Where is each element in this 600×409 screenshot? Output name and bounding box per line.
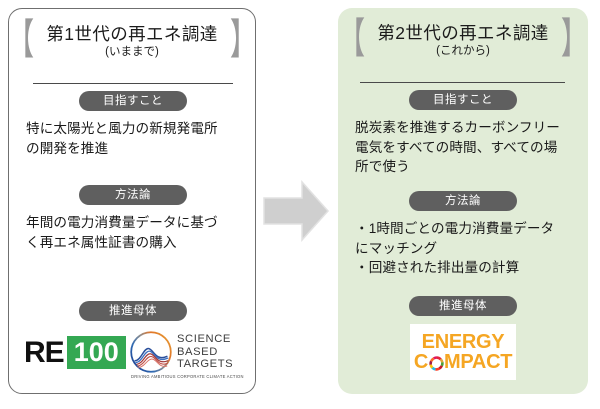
energy-compact-line-2-prefix: C bbox=[414, 352, 428, 372]
sbt-word-line-1: SCIENCE bbox=[177, 333, 233, 346]
gen1-body-goal: 特に太陽光と風力の新規発電所 の開発を推進 bbox=[26, 119, 242, 158]
gen1-title: 第1世代の再エネ調達 bbox=[46, 24, 217, 44]
sbt-circle-mark-icon bbox=[129, 330, 173, 374]
gen2-header-divider bbox=[360, 82, 565, 83]
gen2-body-method: ・1時間ごとの電力消費量データ にマッチング ・回避された排出量の計算 bbox=[355, 219, 579, 278]
gen1-badge-method: 方法論 bbox=[79, 185, 187, 205]
gen1-header-divider bbox=[33, 83, 233, 84]
energy-compact-line-2: C MPACT bbox=[414, 352, 512, 372]
gen2-subtitle: (これから) bbox=[377, 44, 548, 59]
gen1-header: 【 第1世代の再エネ調達 (いままで) 】 bbox=[9, 23, 255, 61]
gen2-header: 【 第2世代の再エネ調達 (これから) 】 bbox=[338, 22, 588, 60]
re100-logo: RE 100 bbox=[24, 336, 126, 369]
gen2-badge-promoter: 推進母体 bbox=[409, 296, 517, 316]
energy-compact-line-2-suffix: MPACT bbox=[444, 352, 512, 372]
gen1-body-method: 年間の電力消費量データに基づ く再エネ属性証書の購入 bbox=[26, 213, 242, 252]
energy-compact-logo: ENERGY C bbox=[410, 324, 516, 380]
bracket-left-icon: 【 bbox=[8, 19, 34, 61]
slide-canvas: 【 第1世代の再エネ調達 (いままで) 】 目指すこと 特に太陽光と風力の新規発… bbox=[0, 0, 600, 409]
sdg-color-wheel-icon bbox=[429, 356, 444, 371]
gen1-badge-promoter: 推進母体 bbox=[79, 301, 187, 321]
energy-compact-line-1: ENERGY bbox=[422, 332, 505, 352]
gen2-badge-goal: 目指すこと bbox=[409, 90, 517, 110]
sbt-word-line-2: BASED bbox=[177, 346, 233, 359]
transition-arrow-icon bbox=[262, 180, 330, 242]
bracket-right-icon: 】 bbox=[230, 19, 256, 61]
bracket-left-icon: 【 bbox=[339, 18, 365, 60]
sbt-word-line-3: TARGETS bbox=[177, 358, 233, 371]
re100-number-badge: 100 bbox=[67, 336, 126, 369]
re100-prefix-text: RE bbox=[24, 336, 67, 369]
sbt-tagline: DRIVING AMBITIOUS CORPORATE CLIMATE ACTI… bbox=[131, 374, 244, 379]
science-based-targets-logo: SCIENCE BASED TARGETS DRIVING AMBITIOUS … bbox=[129, 330, 245, 380]
gen1-badge-goal: 目指すこと bbox=[79, 91, 187, 111]
gen2-title: 第2世代の再エネ調達 bbox=[377, 23, 548, 43]
gen1-subtitle: (いままで) bbox=[46, 45, 217, 60]
gen2-badge-method: 方法論 bbox=[409, 191, 517, 211]
bracket-right-icon: 】 bbox=[561, 18, 587, 60]
sbt-wordmark: SCIENCE BASED TARGETS bbox=[177, 333, 233, 371]
gen2-body-goal: 脱炭素を推進するカーボンフリー 電気をすべての時間、すべての場 所で使う bbox=[355, 118, 579, 177]
